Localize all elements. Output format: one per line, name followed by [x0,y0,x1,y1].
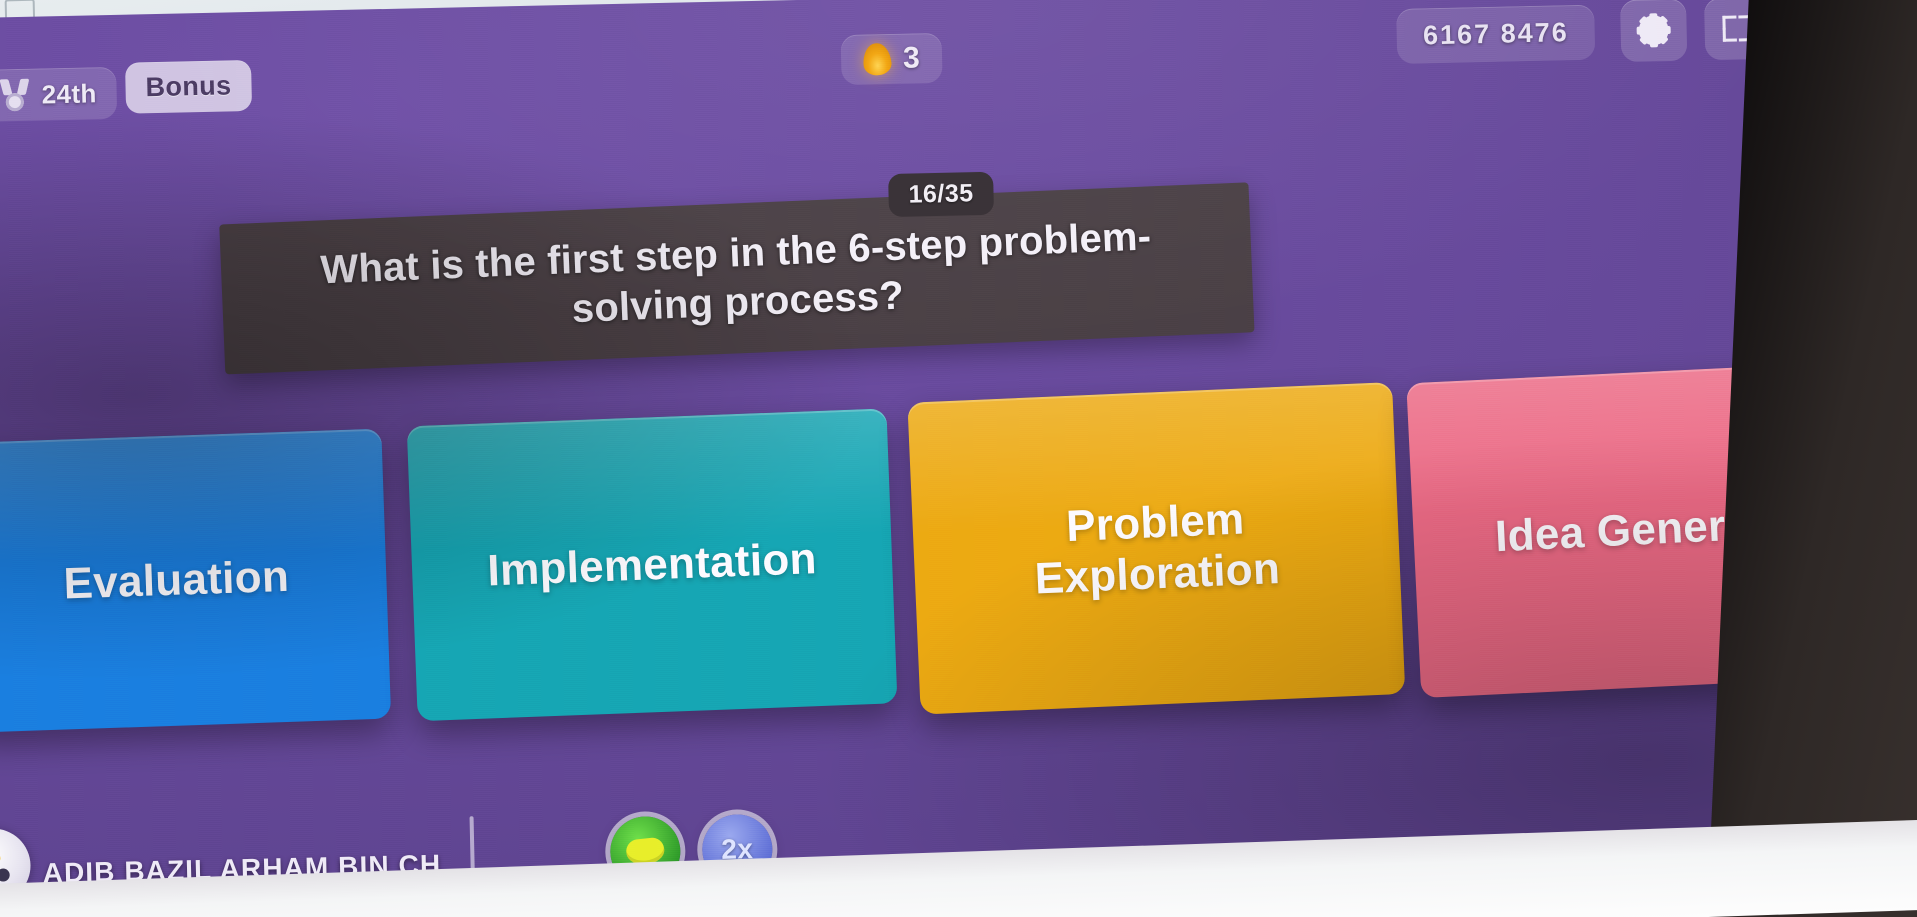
rank-label: 24th [41,78,97,110]
question-counter: 16/35 [888,172,994,217]
flame-icon [862,42,893,76]
question-text: What is the first step in the 6-step pro… [258,210,1215,347]
streak-chip: 3 [841,33,943,85]
quiz-screen: 24th Bonus 3 6167 8476 [0,0,1917,917]
bird-avatar-icon [0,848,2,870]
photo-frame: 24th Bonus 3 6167 8476 [0,0,1917,917]
answer-card-2[interactable]: Problem Exploration [907,382,1405,714]
answer-label-1: Implementation [487,533,818,596]
question-area: 16/35 What is the first step in the 6-st… [0,152,1905,194]
medal-icon [0,79,30,112]
answer-label-2: Problem Exploration [1032,492,1281,604]
streak-count: 3 [903,41,921,75]
gear-icon [1638,15,1669,46]
game-pin-chip: 6167 8476 [1397,5,1596,64]
game-pin-label: 6167 8476 [1423,17,1569,51]
answer-card-1[interactable]: Implementation [407,408,898,721]
bonus-label: Bonus [145,70,232,103]
answer-label-0: Evaluation [63,551,290,610]
bonus-chip[interactable]: Bonus [125,60,252,114]
question-banner: What is the first step in the 6-step pro… [219,182,1254,374]
top-bar: 24th Bonus 3 6167 8476 [0,0,1904,148]
answer-grid: Evaluation Implementation Problem Explor… [0,368,1917,740]
answer-card-0[interactable]: Evaluation [0,429,391,733]
rank-chip[interactable]: 24th [0,67,117,122]
settings-button[interactable] [1620,0,1687,62]
